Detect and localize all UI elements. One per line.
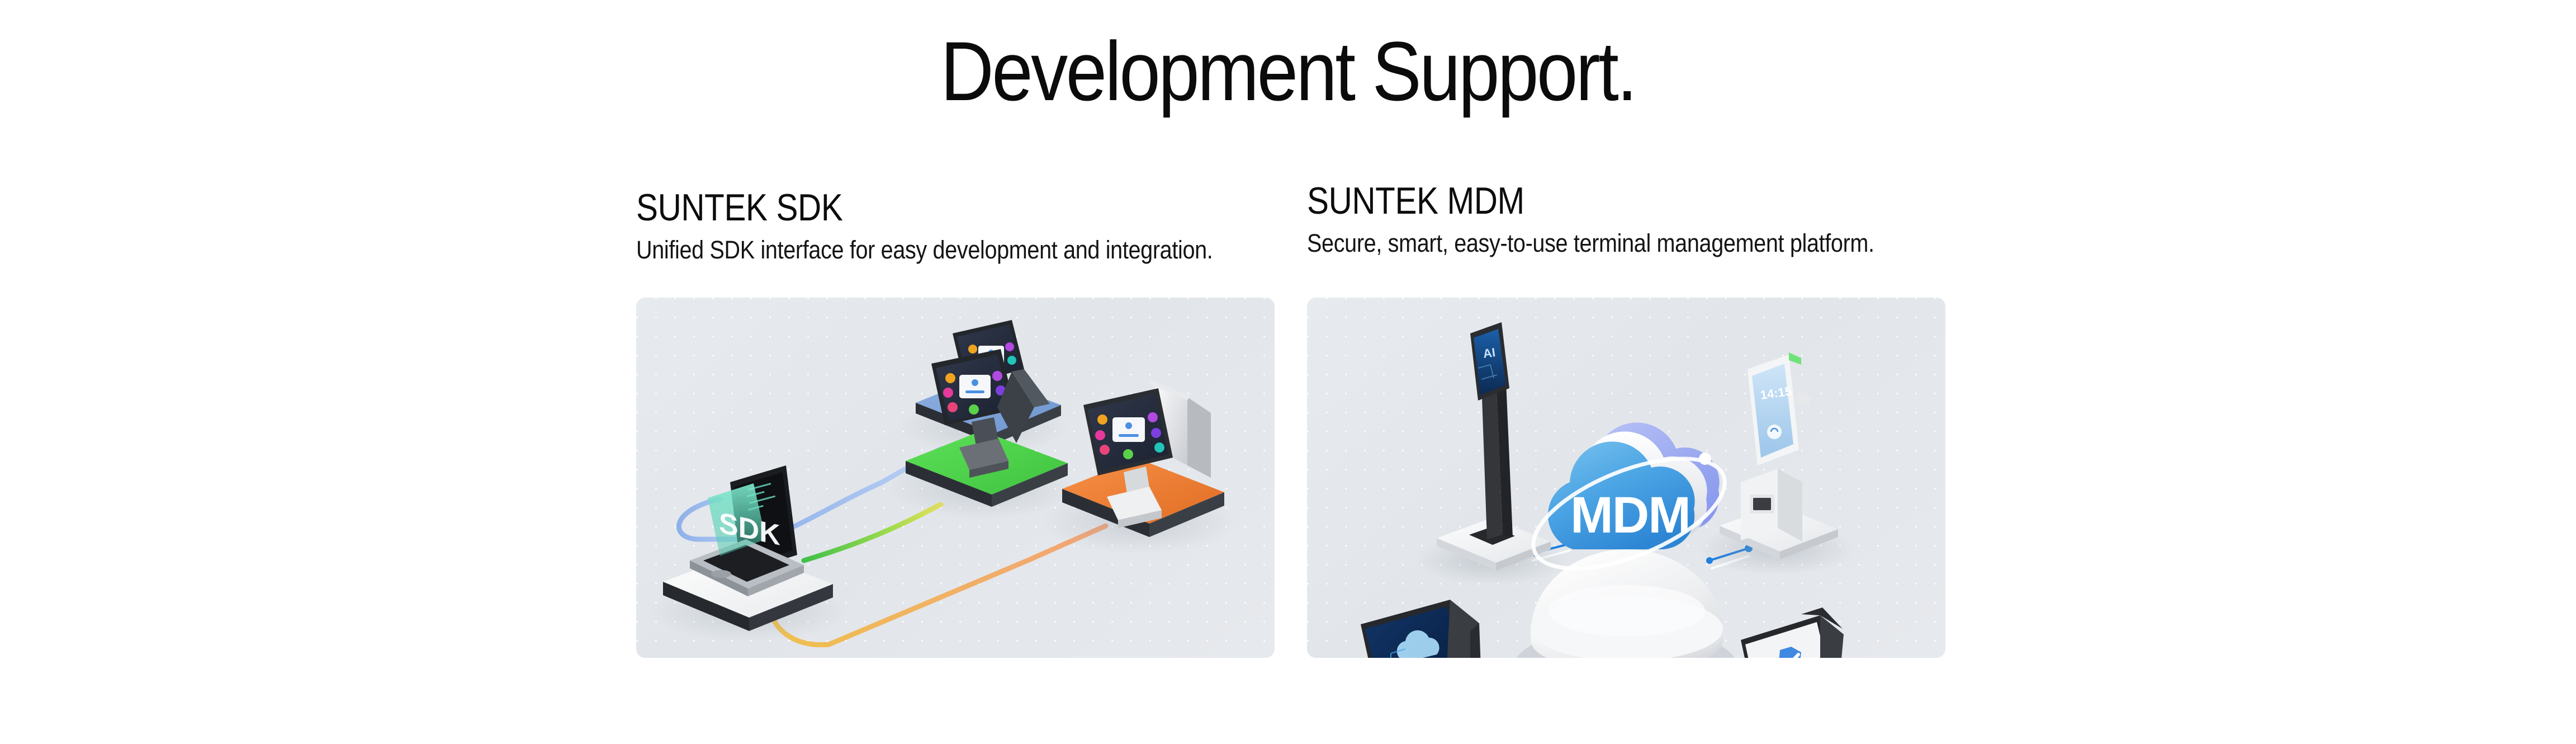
sdk-title: SUNTEK SDK [636, 188, 1185, 228]
sdk-heading-block: SUNTEK SDK Unified SDK interface for eas… [636, 188, 1275, 265]
mdm-title: SUNTEK MDM [1307, 181, 1856, 221]
sdk-subtitle: Unified SDK interface for easy developme… [636, 236, 1198, 265]
mdm-isometric-illustration: AI [1307, 298, 1945, 658]
mdm-device-ai-kiosk: AI [1416, 322, 1567, 585]
content-columns: SUNTEK SDK Unified SDK interface for eas… [0, 0, 2576, 744]
sdk-illustration-card: SDK [636, 298, 1275, 658]
mdm-cloud-label: MDM [1570, 487, 1690, 544]
mdm-ai-kiosk-screen-label: AI [1482, 345, 1496, 361]
sdk-scene: SDK [636, 298, 1275, 658]
sdk-isometric-illustration: SDK [636, 298, 1275, 658]
mdm-illustration-card: AI [1307, 298, 1945, 658]
mdm-device-self-service-kiosk: 14:15 [1698, 352, 1855, 575]
mdm-scene: AI [1307, 298, 1945, 658]
mdm-subtitle: Secure, smart, easy-to-use terminal mana… [1307, 229, 1869, 258]
mdm-heading-block: SUNTEK MDM Secure, smart, easy-to-use te… [1307, 181, 1945, 258]
mdm-device-secure-pos [1726, 608, 1894, 658]
mdm-device-cloud-pos [1361, 600, 1531, 658]
